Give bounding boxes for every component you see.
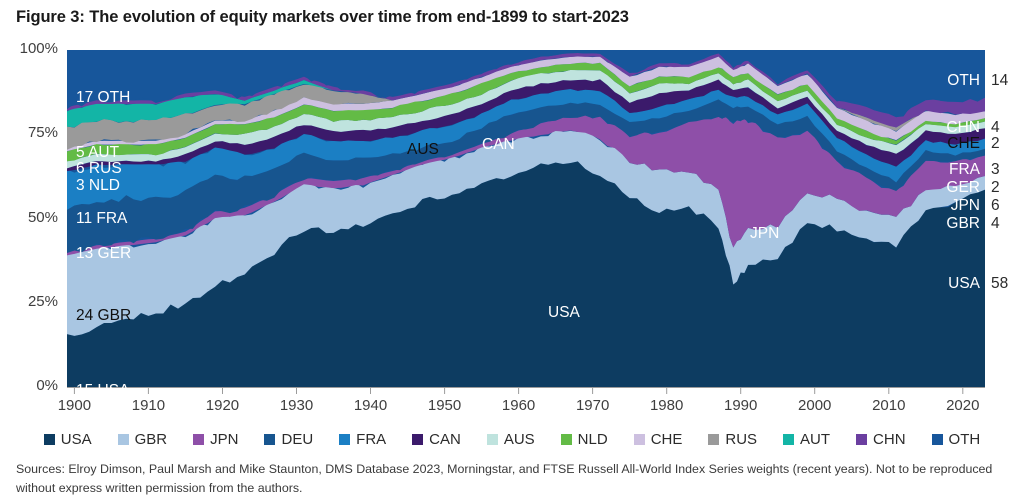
legend-item-aus[interactable]: AUS	[487, 431, 535, 448]
x-axis-label: 2010	[859, 397, 919, 414]
legend-swatch-icon	[118, 434, 129, 445]
y-axis-label: 25%	[6, 293, 58, 310]
legend-swatch-icon	[193, 434, 204, 445]
legend-swatch-icon	[634, 434, 645, 445]
legend-item-can[interactable]: CAN	[412, 431, 461, 448]
x-axis-label: 1970	[563, 397, 623, 414]
x-axis-label: 1920	[192, 397, 252, 414]
legend-label: CAN	[429, 431, 461, 448]
legend-label: CHE	[651, 431, 683, 448]
end-value-fra: 3	[991, 161, 1000, 179]
x-axis-label: 1940	[341, 397, 401, 414]
legend-label: RUS	[725, 431, 757, 448]
x-axis-label: 1990	[711, 397, 771, 414]
legend-label: DEU	[281, 431, 313, 448]
end-value-usa: 58	[991, 275, 1008, 293]
x-axis-label: 2020	[933, 397, 993, 414]
legend-swatch-icon	[561, 434, 572, 445]
legend-item-nld[interactable]: NLD	[561, 431, 608, 448]
end-value-oth: 14	[991, 72, 1008, 90]
x-axis-label: 1930	[267, 397, 327, 414]
x-axis-label: 1900	[44, 397, 104, 414]
legend-item-fra[interactable]: FRA	[339, 431, 386, 448]
x-axis-label: 2000	[785, 397, 845, 414]
legend-item-aut[interactable]: AUT	[783, 431, 830, 448]
legend-item-gbr[interactable]: GBR	[118, 431, 168, 448]
stacked-area-chart: 0%25%50%75%100%1900191019201930194019501…	[0, 36, 1024, 416]
x-axis-label: 1980	[637, 397, 697, 414]
y-axis-label: 100%	[6, 40, 58, 57]
footer-divider	[0, 452, 1024, 453]
end-value-ger: 2	[991, 179, 1000, 197]
page-title: Figure 3: The evolution of equity market…	[16, 8, 629, 27]
legend-swatch-icon	[856, 434, 867, 445]
end-value-jpn: 6	[991, 197, 1000, 215]
legend-swatch-icon	[708, 434, 719, 445]
legend-swatch-icon	[412, 434, 423, 445]
x-axis-label: 1950	[415, 397, 475, 414]
y-axis-label: 75%	[6, 124, 58, 141]
sources-note: Sources: Elroy Dimson, Paul Marsh and Mi…	[16, 460, 1008, 498]
legend-label: NLD	[578, 431, 608, 448]
end-value-gbr: 4	[991, 215, 1000, 233]
legend-label: USA	[61, 431, 92, 448]
legend-item-deu[interactable]: DEU	[264, 431, 313, 448]
legend-swatch-icon	[932, 434, 943, 445]
legend-label: AUT	[800, 431, 830, 448]
legend-item-usa[interactable]: USA	[44, 431, 92, 448]
x-axis-label: 1960	[489, 397, 549, 414]
legend-label: FRA	[356, 431, 386, 448]
legend-label: AUS	[504, 431, 535, 448]
legend-item-rus[interactable]: RUS	[708, 431, 757, 448]
legend-swatch-icon	[487, 434, 498, 445]
legend-swatch-icon	[264, 434, 275, 445]
legend-swatch-icon	[783, 434, 794, 445]
chart-plot-svg	[0, 36, 1024, 416]
legend-item-chn[interactable]: CHN	[856, 431, 906, 448]
legend-swatch-icon	[44, 434, 55, 445]
end-value-che: 2	[991, 135, 1000, 153]
legend-item-jpn[interactable]: JPN	[193, 431, 238, 448]
legend-label: GBR	[135, 431, 168, 448]
legend-item-oth[interactable]: OTH	[932, 431, 981, 448]
x-axis-label: 1910	[118, 397, 178, 414]
legend-item-che[interactable]: CHE	[634, 431, 683, 448]
legend-label: CHN	[873, 431, 906, 448]
legend-label: JPN	[210, 431, 238, 448]
y-axis-label: 50%	[6, 209, 58, 226]
legend-label: OTH	[949, 431, 981, 448]
y-axis-label: 0%	[6, 377, 58, 394]
legend-swatch-icon	[339, 434, 350, 445]
chart-legend: USAGBRJPNDEUFRACANAUSNLDCHERUSAUTCHNOTH	[0, 424, 1024, 454]
